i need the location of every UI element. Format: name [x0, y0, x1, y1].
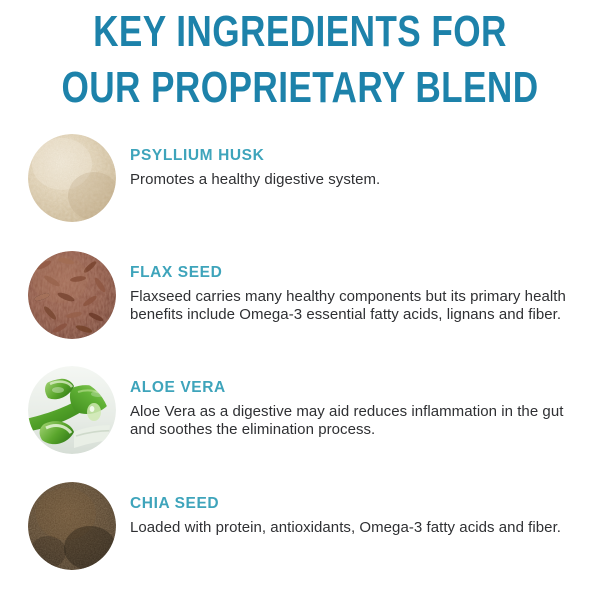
ingredient-name: CHIA SEED [130, 495, 570, 513]
ingredient-text-psyllium-husk: PSYLLIUM HUSK Promotes a healthy digesti… [116, 134, 560, 189]
ingredient-description: Flaxseed carries many healthy components… [130, 288, 578, 323]
ingredient-name: ALOE VERA [130, 379, 582, 397]
ingredient-name: FLAX SEED [130, 264, 578, 282]
ingredient-text-aloe-vera: ALOE VERA Aloe Vera as a digestive may a… [116, 366, 582, 438]
ingredients-infographic: KEY INGREDIENTS FOR OUR PROPRIETARY BLEN… [0, 0, 600, 600]
flax-seed-photo [28, 251, 116, 339]
page-title-line-2: OUR PROPRIETARY BLEND [60, 60, 540, 116]
ingredient-description: Aloe Vera as a digestive may aid reduces… [130, 403, 582, 438]
ingredient-text-chia-seed: CHIA SEED Loaded with protein, antioxida… [116, 482, 570, 537]
page-title-line-1: KEY INGREDIENTS FOR [60, 4, 540, 60]
ingredient-item-psyllium-husk: PSYLLIUM HUSK Promotes a healthy digesti… [0, 134, 600, 222]
ingredient-name: PSYLLIUM HUSK [130, 147, 560, 165]
ingredient-description: Loaded with protein, antioxidants, Omega… [130, 519, 570, 537]
ingredient-text-flax-seed: FLAX SEED Flaxseed carries many healthy … [116, 251, 578, 323]
psyllium-husk-photo [28, 134, 116, 222]
ingredient-item-aloe-vera: ALOE VERA Aloe Vera as a digestive may a… [0, 366, 600, 454]
chia-seed-photo [28, 482, 116, 570]
ingredient-list: PSYLLIUM HUSK Promotes a healthy digesti… [0, 134, 600, 570]
aloe-vera-photo [28, 366, 116, 454]
page-title: KEY INGREDIENTS FOR OUR PROPRIETARY BLEN… [0, 0, 600, 116]
ingredient-item-flax-seed: FLAX SEED Flaxseed carries many healthy … [0, 251, 600, 339]
ingredient-description: Promotes a healthy digestive system. [130, 171, 560, 189]
ingredient-item-chia-seed: CHIA SEED Loaded with protein, antioxida… [0, 482, 600, 570]
